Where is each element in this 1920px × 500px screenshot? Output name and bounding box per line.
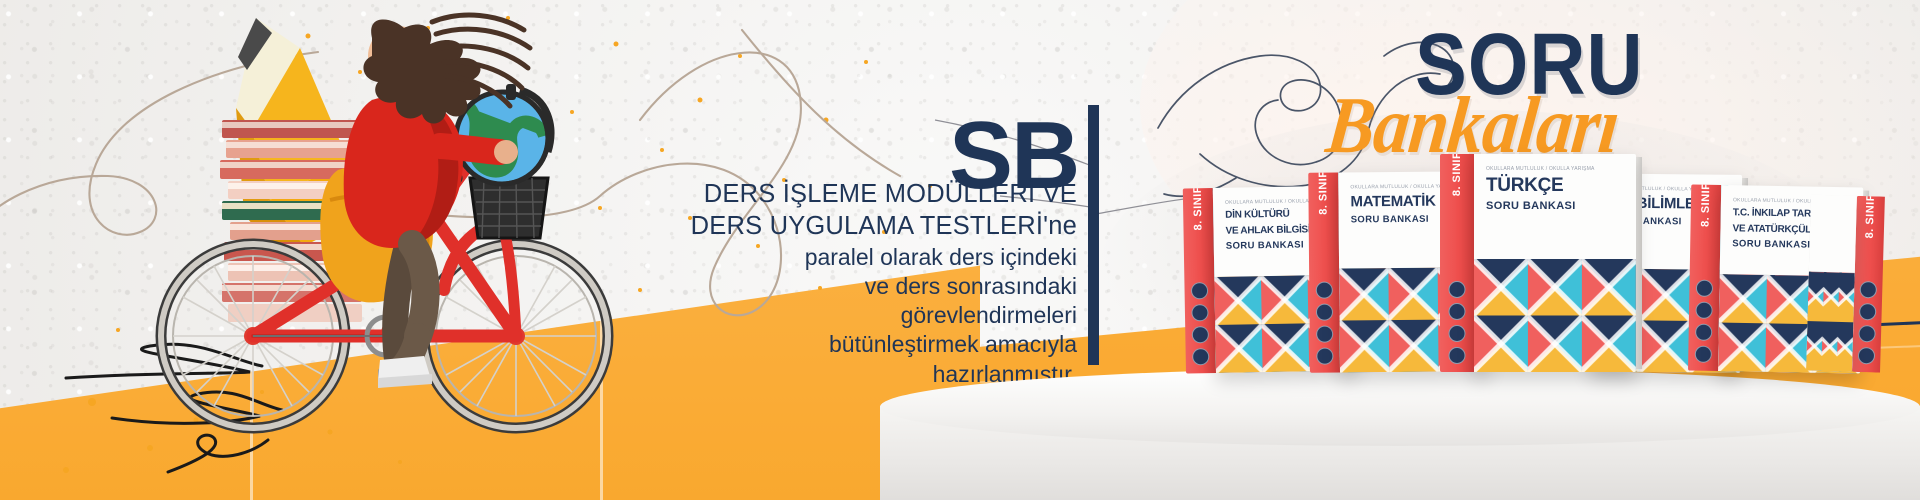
book-title-line1: TÜRKÇE — [1486, 176, 1636, 196]
promo-banner: SB DERS İŞLEME MODÜLLERİ VE DERS UYGULAM… — [0, 0, 1920, 500]
book-cover-pattern — [1474, 259, 1636, 372]
book-grade-label: 8. SINIF — [1192, 188, 1205, 231]
book-credit: OKULLARA MUTLULUK / OKULLA YARIŞMA — [1486, 166, 1636, 172]
book-edge-right[interactable]: 8. SINIF — [1806, 195, 1917, 374]
book-grade-label: 8. SINIF — [1864, 196, 1877, 239]
book-grade-label: 8. SINIF — [1700, 185, 1713, 228]
book-grade-label: 8. SINIF — [1451, 154, 1463, 196]
book-spine: 8. SINIF — [1183, 188, 1216, 373]
book-spine: 8. SINIF — [1852, 196, 1885, 373]
book-cover: OKULLARA MUTLULUK / OKULLA YARIŞMA TÜRKÇ… — [1474, 154, 1636, 372]
book-spine: 8. SINIF — [1440, 154, 1474, 372]
book-subtitle: SORU BANKASI — [1486, 200, 1636, 212]
book-grade-label: 8. SINIF — [1317, 173, 1329, 215]
book-cover — [1806, 195, 1857, 372]
cyclist-illustration — [0, 0, 700, 500]
book-cover-pattern — [1806, 272, 1855, 372]
book-turkce[interactable]: 8. SINIF OKULLARA MUTLULUK / OKULLA YARI… — [1440, 154, 1636, 372]
book-spine: 8. SINIF — [1308, 173, 1340, 373]
book-spine: 8. SINIF — [1688, 185, 1721, 371]
